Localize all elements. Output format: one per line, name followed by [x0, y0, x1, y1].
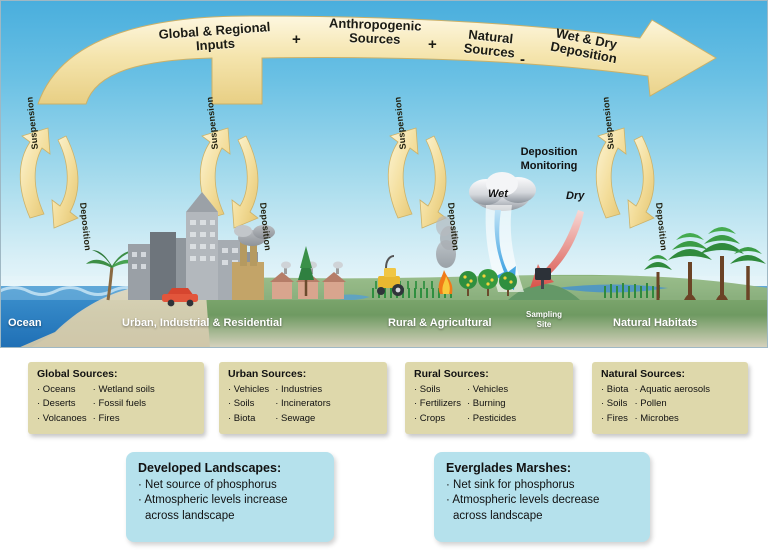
source-item: · Fossil fuels	[93, 397, 155, 410]
source-column-right: · Vehicles · Burning · Pesticides	[467, 383, 516, 425]
equation-arrow-labels: Global & Regional Inputs + Anthropogenic…	[30, 6, 742, 116]
conclusion-item: · Net source of phosphorus	[138, 478, 322, 493]
source-box-title: Global Sources:	[37, 368, 196, 380]
conclusion-item: · Atmospheric levels increase	[138, 493, 322, 508]
conclusion-box-everglades-marshes: Everglades Marshes: · Net sink for phosp…	[434, 452, 650, 542]
source-item: · Soils	[601, 397, 628, 410]
source-item: · Microbes	[634, 412, 710, 425]
source-column-left: · Soils · Fertilizers · Crops	[414, 383, 461, 425]
source-column-left: · Vehicles · Soils · Biota	[228, 383, 269, 425]
deposition-monitoring-title: Deposition Monitoring	[489, 146, 609, 174]
conclusion-item-continued: across landscape	[446, 509, 638, 524]
wet-deposition-label: Wet	[488, 188, 508, 200]
source-item: · Soils	[414, 383, 461, 396]
source-column-right: · Wetland soils · Fossil fuels · Fires	[93, 383, 155, 425]
suspension-deposition-arrows	[20, 128, 654, 228]
transport-arrow-pair-4: Suspension Deposition	[590, 124, 686, 224]
source-item: · Biota	[228, 412, 269, 425]
transport-arrow-pair-1: Suspension Deposition	[14, 124, 110, 224]
source-item: · Oceans	[37, 383, 87, 396]
transport-arrow-pair-3: Suspension Deposition	[382, 124, 478, 224]
conclusion-box-developed-landscapes: Developed Landscapes: · Net source of ph…	[126, 452, 334, 542]
zone-label-ocean: Ocean	[8, 317, 42, 329]
source-box-urban: Urban Sources: · Vehicles · Soils · Biot…	[219, 362, 387, 434]
zone-label-sampling-site: Sampling Site	[516, 310, 572, 329]
source-item: · Volcanoes	[37, 412, 87, 425]
zone-label-natural-habitats: Natural Habitats	[613, 317, 697, 329]
source-box-title: Urban Sources:	[228, 368, 379, 380]
source-item: · Soils	[228, 397, 269, 410]
source-item: · Sewage	[275, 412, 330, 425]
source-box-natural: Natural Sources: · Biota · Soils · Fires…	[592, 362, 748, 434]
equation-term-deposition: Wet & Dry Deposition	[519, 20, 652, 72]
source-item: · Pollen	[634, 397, 710, 410]
source-item: · Pesticides	[467, 412, 516, 425]
source-item: · Fires	[601, 412, 628, 425]
source-item: · Fires	[93, 412, 155, 425]
equation-operator-3: -	[520, 51, 525, 68]
source-column-right: · Aquatic aerosols · Pollen · Microbes	[634, 383, 710, 425]
source-column-left: · Biota · Soils · Fires	[601, 383, 628, 425]
source-item: · Vehicles	[467, 383, 516, 396]
conclusion-title: Everglades Marshes:	[446, 461, 638, 475]
source-item: · Aquatic aerosols	[634, 383, 710, 396]
source-item: · Deserts	[37, 397, 87, 410]
landscape-scene: Global & Regional Inputs + Anthropogenic…	[0, 0, 768, 348]
conclusion-title: Developed Landscapes:	[138, 461, 322, 475]
conclusion-item: · Net sink for phosphorus	[446, 478, 638, 493]
source-box-rural: Rural Sources: · Soils · Fertilizers · C…	[405, 362, 573, 434]
dry-deposition-label: Dry	[566, 190, 584, 202]
zone-label-urban: Urban, Industrial & Residential	[122, 317, 282, 329]
conclusion-item: · Atmospheric levels decrease	[446, 493, 638, 508]
diagram-root: Global & Regional Inputs + Anthropogenic…	[0, 0, 768, 558]
source-item: · Biota	[601, 383, 628, 396]
source-column-right: · Industries · Incinerators · Sewage	[275, 383, 330, 425]
source-column-left: · Oceans · Deserts · Volcanoes	[37, 383, 87, 425]
source-box-global: Global Sources: · Oceans · Deserts · Vol…	[28, 362, 204, 434]
source-item: · Wetland soils	[93, 383, 155, 396]
conclusion-item-continued: across landscape	[138, 509, 322, 524]
source-item: · Industries	[275, 383, 330, 396]
source-box-title: Natural Sources:	[601, 368, 740, 380]
source-box-title: Rural Sources:	[414, 368, 565, 380]
source-item: · Fertilizers	[414, 397, 461, 410]
source-item: · Burning	[467, 397, 516, 410]
transport-arrow-pair-2: Suspension Deposition	[194, 124, 290, 224]
source-item: · Crops	[414, 412, 461, 425]
source-item: · Vehicles	[228, 383, 269, 396]
orchard-graphic	[459, 269, 517, 296]
zone-label-rural: Rural & Agricultural	[388, 317, 492, 329]
equation-term-global: Global & Regional Inputs	[134, 18, 296, 57]
source-item: · Incinerators	[275, 397, 330, 410]
